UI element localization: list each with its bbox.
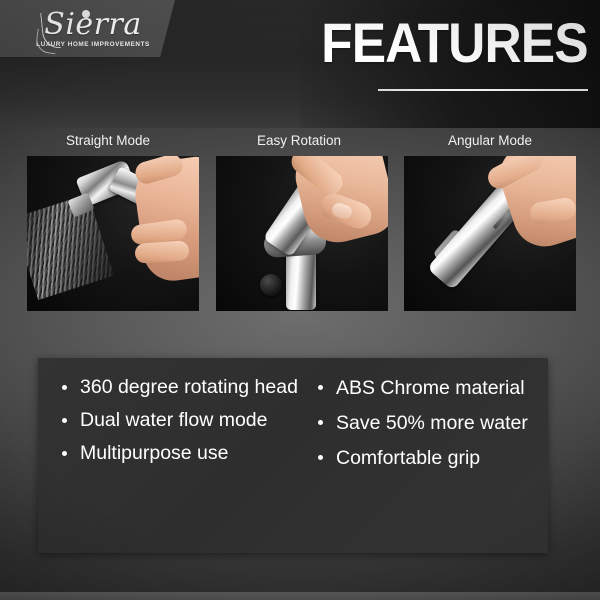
gallery-caption-angular-mode: Angular Mode [398, 132, 582, 150]
bottom-strip [0, 592, 600, 600]
features-list-right: ABS Chrome material Save 50% more water … [312, 372, 542, 475]
finger [134, 240, 189, 264]
gallery-caption-easy-rotation: Easy Rotation [207, 132, 391, 150]
list-item: Save 50% more water [312, 407, 542, 440]
promo-graphic: Sierra LUXURY HOME IMPROVEMENTS FEATURES… [0, 0, 600, 600]
logo-swash-secondary-icon [35, 29, 59, 55]
features-right-column: ABS Chrome material Save 50% more water … [306, 358, 548, 553]
gallery-image-angular-mode [404, 156, 576, 311]
gallery-image-easy-rotation [216, 156, 388, 311]
list-item: Comfortable grip [312, 442, 542, 475]
gallery-captions: Straight Mode Easy Rotation Angular Mode [0, 132, 600, 154]
list-item: ABS Chrome material [312, 372, 542, 405]
features-list-left: 360 degree rotating head Dual water flow… [56, 372, 300, 469]
list-item: Multipurpose use [56, 438, 300, 469]
logo-dot-icon [82, 10, 90, 18]
features-panel: 360 degree rotating head Dual water flow… [38, 358, 548, 553]
mode-knob-button [260, 274, 282, 296]
page-title: FEATURES [322, 14, 588, 72]
gallery-caption-straight-mode: Straight Mode [16, 132, 200, 150]
list-item: Dual water flow mode [56, 405, 300, 436]
brand-logo: Sierra LUXURY HOME IMPROVEMENTS [10, 0, 170, 57]
list-item: 360 degree rotating head [56, 372, 300, 403]
features-left-column: 360 degree rotating head Dual water flow… [38, 358, 306, 553]
gallery-image-straight-mode [27, 156, 199, 311]
title-underline [378, 89, 588, 91]
